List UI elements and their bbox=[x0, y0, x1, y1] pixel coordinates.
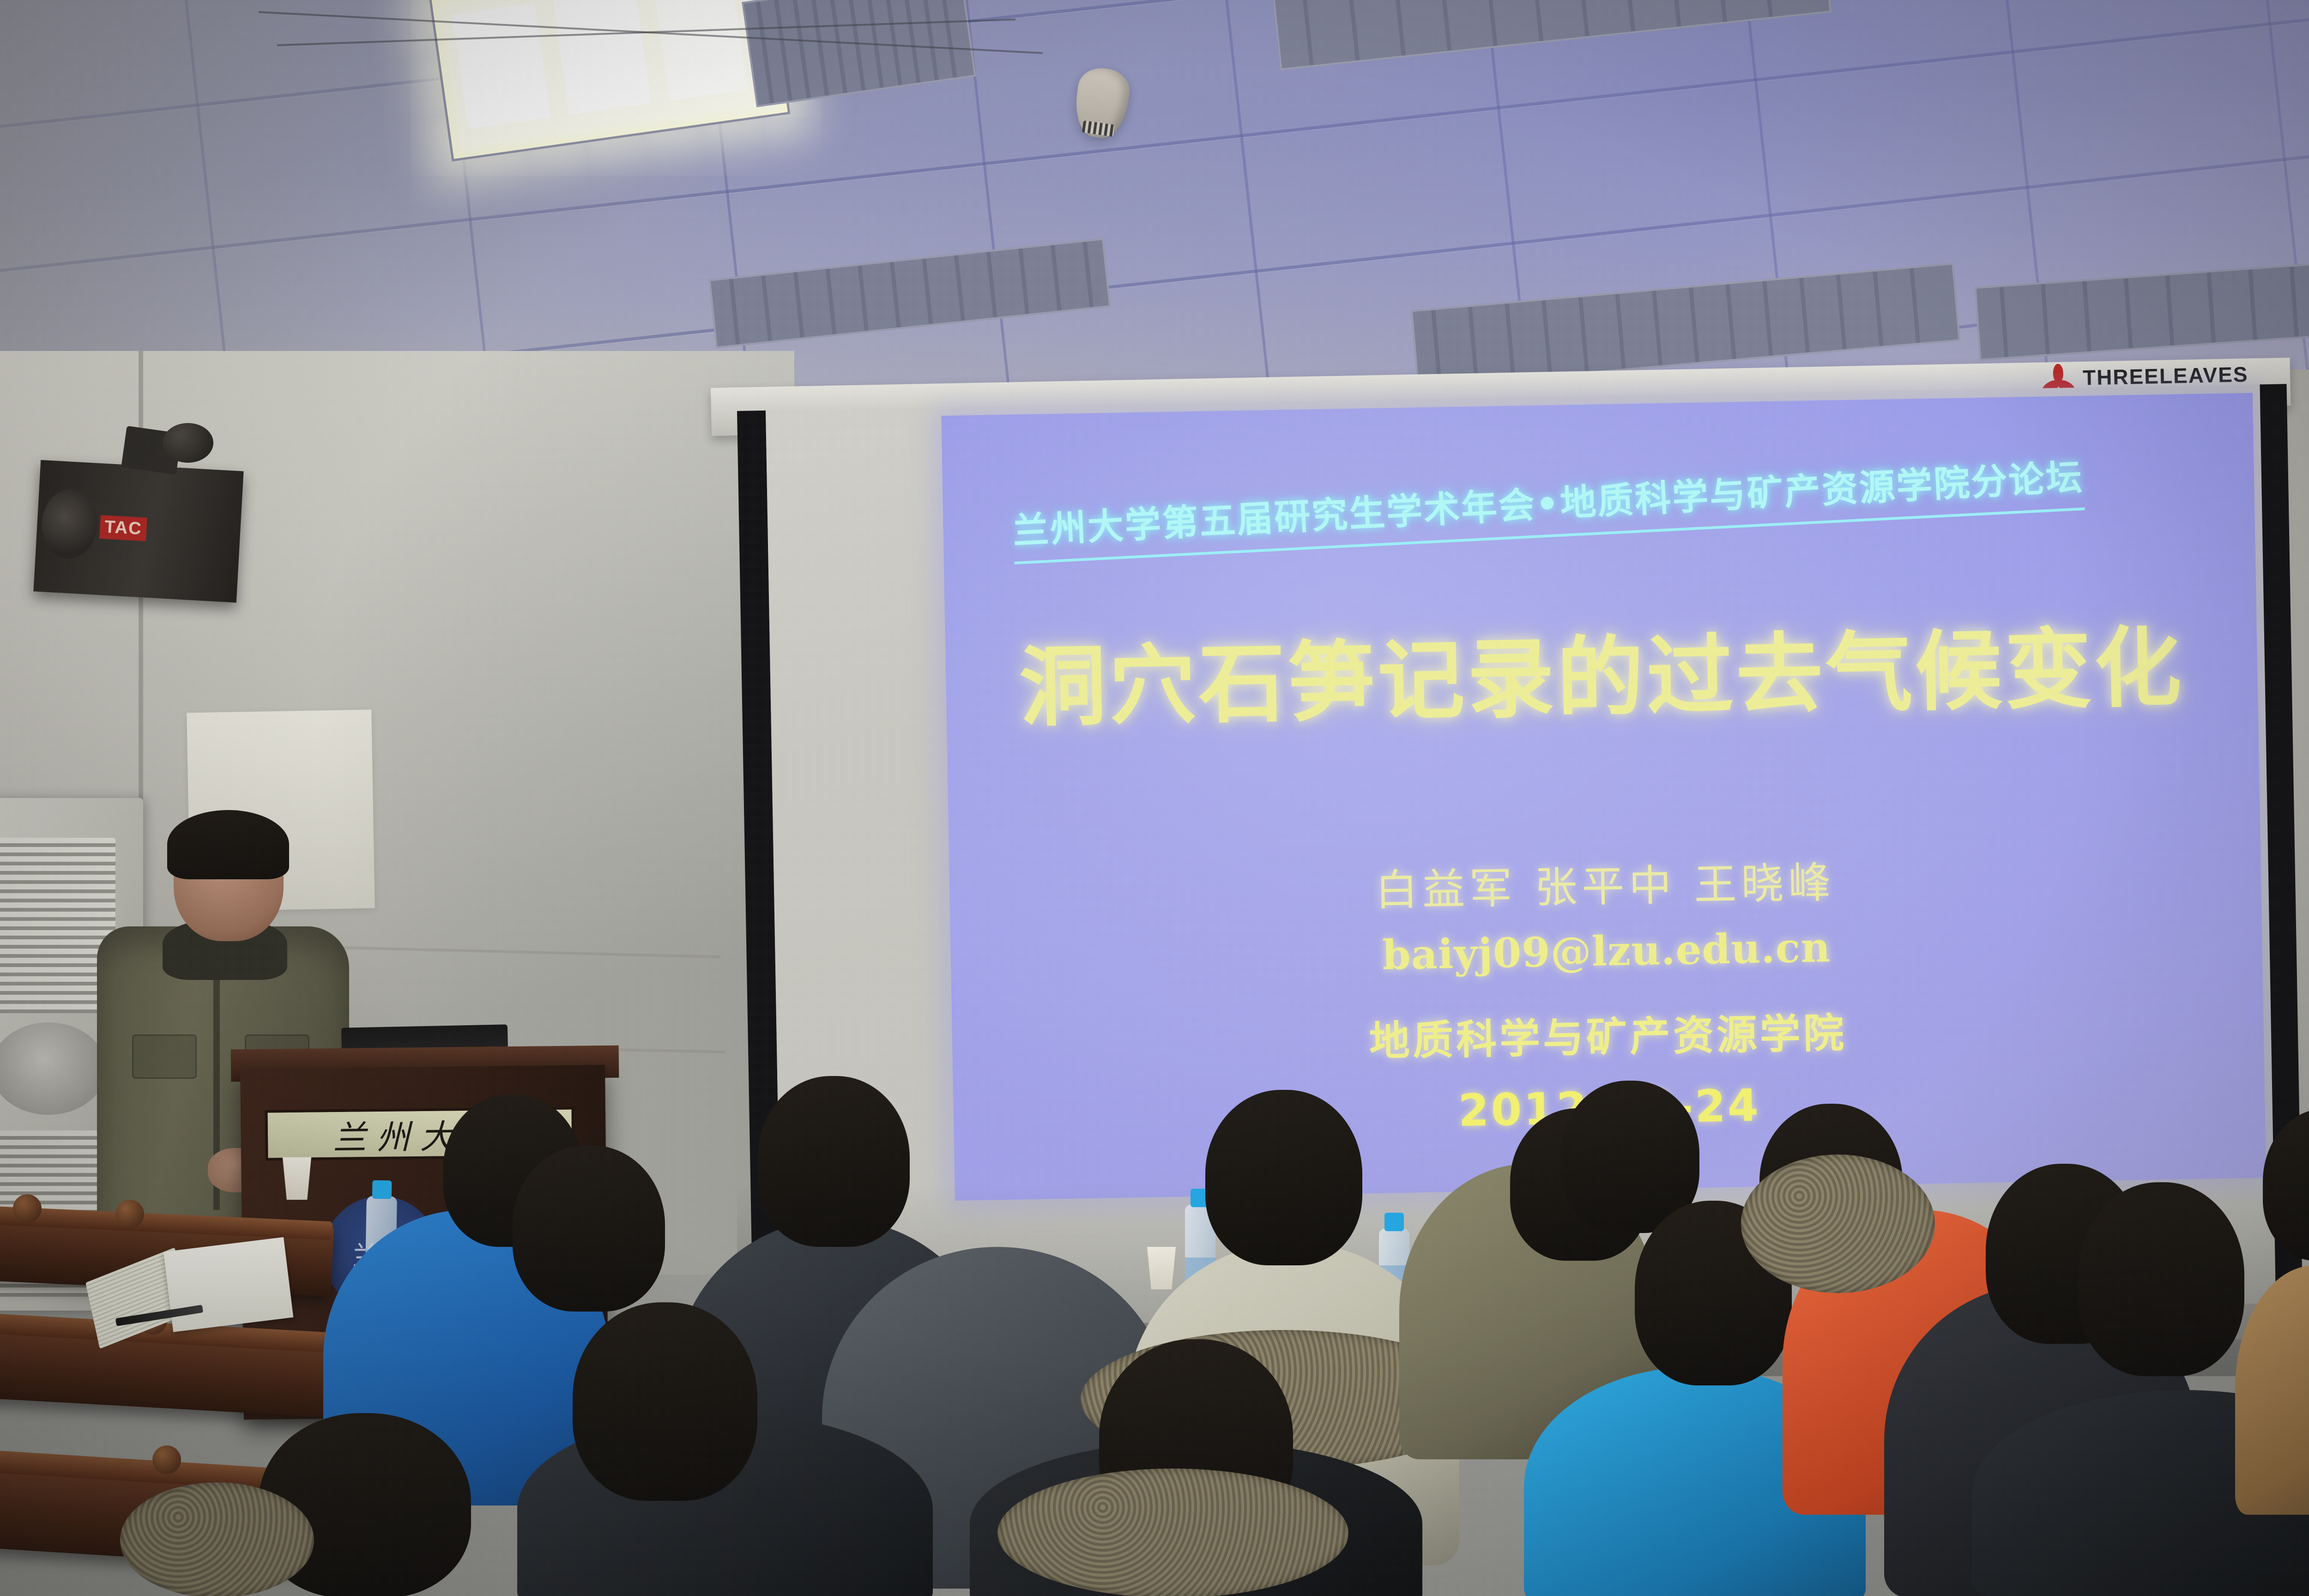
air-conditioner-fan-ring bbox=[0, 1022, 106, 1115]
bench-knob bbox=[152, 1445, 181, 1474]
speaker-cone bbox=[40, 488, 99, 560]
slide-authors: 白益军 张平中 王晓峰 bbox=[949, 841, 2261, 925]
audience-head bbox=[1205, 1090, 1362, 1265]
audience-head bbox=[513, 1145, 665, 1312]
bench-knob bbox=[13, 1194, 42, 1223]
slide-header: 兰州大学第五届研究生学术年会•地质科学与矿产资源学院分论坛 bbox=[1011, 445, 2145, 564]
audience-fur-hood bbox=[120, 1482, 314, 1596]
audience-fur-hood bbox=[1741, 1155, 1935, 1293]
projected-slide: 兰州大学第五届研究生学术年会•地质科学与矿产资源学院分论坛 洞穴石笋记录的过去气… bbox=[941, 393, 2266, 1201]
slide-authors-text: 白益军 张平中 王晓峰 bbox=[1375, 858, 1836, 915]
bench-knob bbox=[115, 1200, 144, 1228]
slide-header-text: 兰州大学第五届研究生学术年会•地质科学与矿产资源学院分论坛 bbox=[1011, 448, 2085, 564]
presenter-hair bbox=[167, 810, 289, 879]
lecture-hall-photo: TAC THREELEAVES 兰州大学第五届研究生学术年会•地质科学与矿产资源… bbox=[0, 0, 2309, 1596]
slide-email: baiyj09@lzu.edu.cn bbox=[950, 916, 2262, 987]
slide-email-text: baiyj09@lzu.edu.cn bbox=[1382, 923, 1831, 979]
audience-head bbox=[2078, 1182, 2244, 1376]
audience-head bbox=[573, 1302, 757, 1501]
speaker-brand-label: TAC bbox=[99, 515, 147, 541]
slide-affiliation: 地质科学与矿产资源学院 bbox=[952, 993, 2264, 1075]
slide-title: 洞穴石笋记录的过去气候变化 bbox=[945, 596, 2258, 745]
audience-head bbox=[757, 1076, 910, 1247]
notebook-right-page bbox=[163, 1237, 293, 1332]
audience-fur-hood bbox=[997, 1469, 1348, 1596]
wall-speaker: TAC bbox=[33, 460, 243, 603]
speaker-mount-knob bbox=[163, 423, 213, 463]
jacket-pocket-left bbox=[132, 1034, 197, 1079]
slide-affiliation-text: 地质科学与矿产资源学院 bbox=[1369, 1009, 1847, 1065]
slide-title-text: 洞穴石笋记录的过去气候变化 bbox=[1019, 617, 2185, 738]
